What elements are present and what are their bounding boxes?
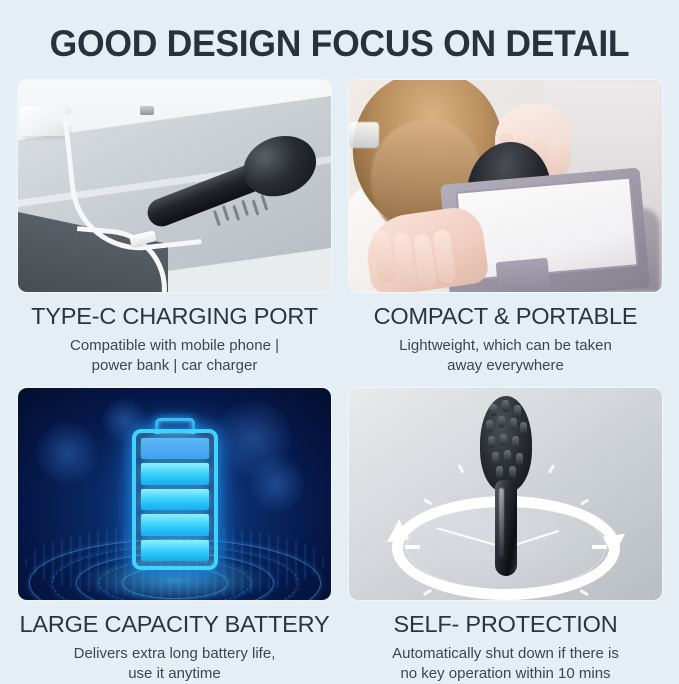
battery-segment — [141, 514, 209, 535]
device-power-button — [140, 106, 154, 115]
caption-compact-portable: COMPACT & PORTABLE Lightweight, which ca… — [349, 292, 662, 376]
wall-charger-adapter — [20, 106, 68, 136]
bokeh-light — [248, 456, 304, 512]
bokeh-light — [36, 422, 98, 484]
feature-card-large-capacity-battery: LARGE CAPACITY BATTERY Delivers extra lo… — [18, 388, 331, 684]
handbag-clasp — [496, 258, 551, 292]
battery-segment — [141, 438, 209, 459]
feature-image-compact-portable — [349, 80, 662, 292]
caption-self-protection: SELF- PROTECTION Automatically shut down… — [349, 600, 662, 684]
feature-heading: SELF- PROTECTION — [349, 610, 662, 638]
infographic-page: GOOD DESIGN FOCUS ON DETAIL — [0, 0, 679, 679]
battery-segment — [141, 463, 209, 484]
battery-icon — [132, 418, 218, 570]
earring — [349, 122, 379, 148]
feature-heading: COMPACT & PORTABLE — [349, 302, 662, 330]
feature-subtext: Lightweight, which can be taken away eve… — [349, 336, 662, 376]
feature-card-compact-portable: COMPACT & PORTABLE Lightweight, which ca… — [349, 80, 662, 376]
caption-type-c-charging-port: TYPE-C CHARGING PORT Compatible with mob… — [18, 292, 331, 376]
feature-grid: TYPE-C CHARGING PORT Compatible with mob… — [18, 80, 662, 684]
handle-highlight — [499, 488, 504, 558]
caption-large-capacity-battery: LARGE CAPACITY BATTERY Delivers extra lo… — [18, 600, 331, 684]
feature-subtext: Automatically shut down if there is no k… — [349, 644, 662, 684]
battery-body — [132, 429, 218, 570]
feature-heading: LARGE CAPACITY BATTERY — [18, 610, 331, 638]
feature-card-self-protection: SELF- PROTECTION Automatically shut down… — [349, 388, 662, 684]
feature-image-large-capacity-battery — [18, 388, 331, 600]
battery-segment — [141, 489, 209, 510]
massage-brush-device — [478, 396, 534, 576]
feature-card-type-c-charging-port: TYPE-C CHARGING PORT Compatible with mob… — [18, 80, 331, 376]
feature-subtext: Compatible with mobile phone | power ban… — [18, 336, 331, 376]
device-brush-head — [480, 396, 532, 492]
feature-subtext: Delivers extra long battery life, use it… — [18, 644, 331, 684]
feature-heading: TYPE-C CHARGING PORT — [18, 302, 331, 330]
battery-segment — [141, 540, 209, 561]
feature-image-self-protection — [349, 388, 662, 600]
feature-image-type-c-charging-port — [18, 80, 331, 292]
page-title: GOOD DESIGN FOCUS ON DETAIL — [14, 22, 666, 66]
